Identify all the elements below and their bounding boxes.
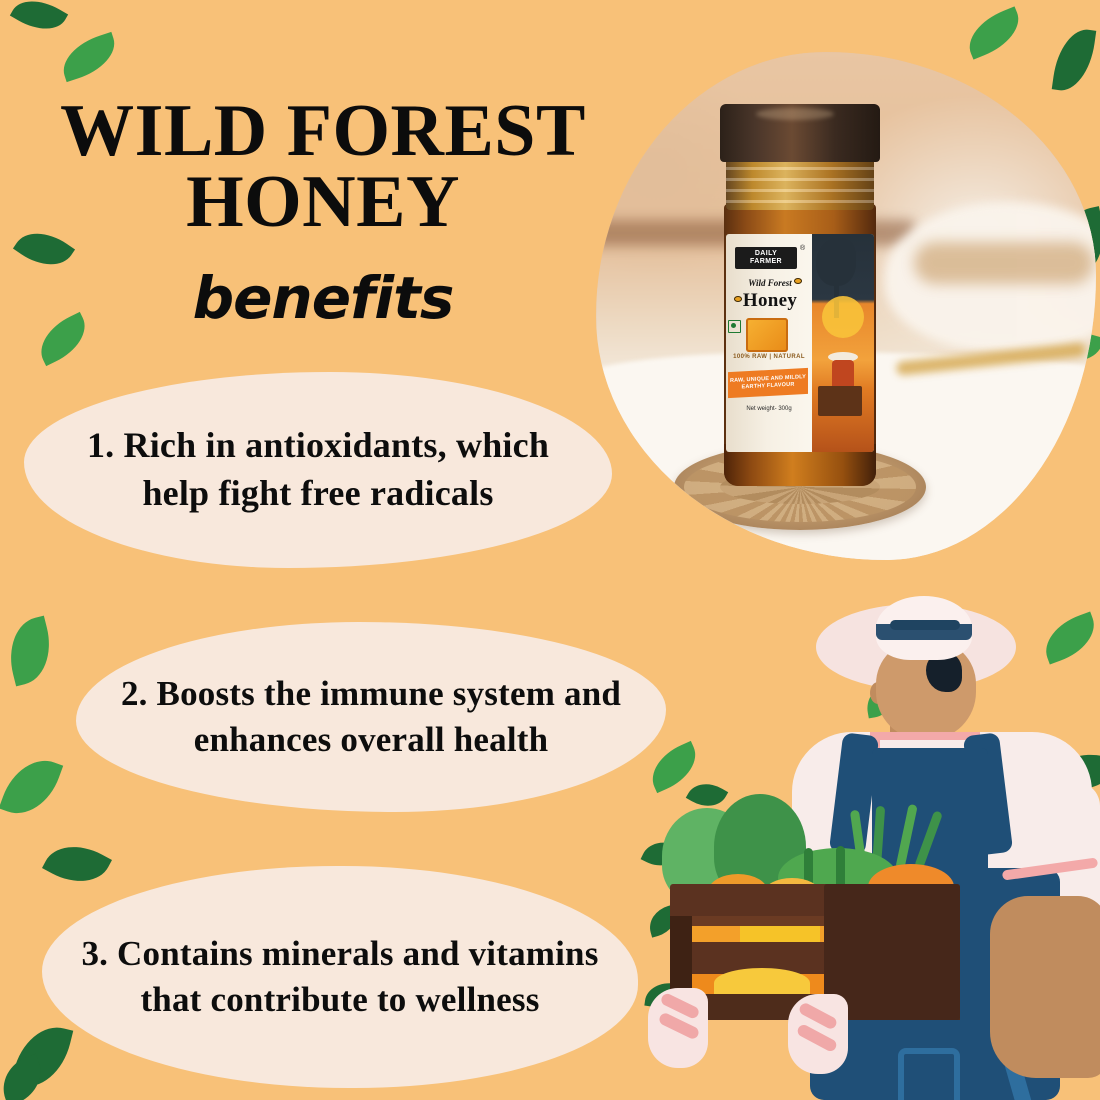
leaf-icon xyxy=(10,0,68,40)
jar-cap xyxy=(720,104,880,162)
headline-block: WILD FOREST HONEY benefits xyxy=(58,96,588,332)
crate-gap-produce xyxy=(740,924,820,942)
page-subtitle: benefits xyxy=(58,264,588,332)
benefit-text-2: 2. Boosts the immune system and enhances… xyxy=(76,671,666,763)
leaf-icon xyxy=(56,32,122,82)
brand-logo: DAILYFARMER xyxy=(735,247,797,269)
farmer-overall-pocket xyxy=(898,1048,960,1100)
label-flavour-text: RAW, UNIQUE AND MILDLY EARTHY FLAVOUR xyxy=(728,374,808,392)
benefit-card-1: 1. Rich in antioxidants, which help figh… xyxy=(24,372,612,568)
farmer-illustration xyxy=(640,596,1100,1100)
leaf-icon xyxy=(0,750,63,824)
label-flavour-banner: RAW, UNIQUE AND MILDLY EARTHY FLAVOUR xyxy=(728,368,808,398)
brand-line1: DAILY xyxy=(755,250,777,257)
page-title-line1: WILD FOREST xyxy=(58,96,588,167)
label-artwork-panel xyxy=(812,234,874,452)
label-text-panel: DAILYFARMER ® Wild Forest Honey 100% RAW… xyxy=(726,234,812,452)
leaf-icon xyxy=(1,616,59,687)
trademark-symbol: ® xyxy=(800,245,805,252)
vegetarian-mark-icon xyxy=(728,320,741,333)
label-sun-icon xyxy=(822,296,864,338)
brand-logo-text: DAILYFARMER xyxy=(750,250,782,266)
benefit-card-2: 2. Boosts the immune system and enhances… xyxy=(76,622,666,812)
honey-jar: DAILYFARMER ® Wild Forest Honey 100% RAW… xyxy=(716,104,884,486)
farmer-hat-band-top xyxy=(890,620,960,630)
label-claim: 100% RAW | NATURAL xyxy=(730,354,808,360)
bee-icon xyxy=(794,278,802,284)
jar-label: DAILYFARMER ® Wild Forest Honey 100% RAW… xyxy=(726,234,874,452)
benefit-card-3: 3. Contains minerals and vitamins that c… xyxy=(42,866,638,1088)
photo-blur-bowl-inner xyxy=(914,242,1094,284)
benefit-text-1: 1. Rich in antioxidants, which help figh… xyxy=(24,422,612,517)
poster-canvas: WILD FOREST HONEY benefits 1. Rich in an… xyxy=(0,0,1100,1100)
benefit-text-3: 3. Contains minerals and vitamins that c… xyxy=(42,931,638,1023)
jar-neck-threads xyxy=(726,156,874,210)
brand-line2: FARMER xyxy=(750,258,782,265)
farmer-right-arm xyxy=(990,896,1100,1078)
label-crate-icon xyxy=(818,386,862,416)
page-title-line2: HONEY xyxy=(58,167,588,238)
label-product-name: Honey xyxy=(734,290,806,312)
jar-cap-highlight xyxy=(756,108,834,120)
product-photo: DAILYFARMER ® Wild Forest Honey 100% RAW… xyxy=(596,52,1096,560)
honeycomb-icon xyxy=(746,318,788,352)
label-net-weight: Net weight- 300g xyxy=(730,406,808,412)
leaf-icon xyxy=(42,833,112,896)
